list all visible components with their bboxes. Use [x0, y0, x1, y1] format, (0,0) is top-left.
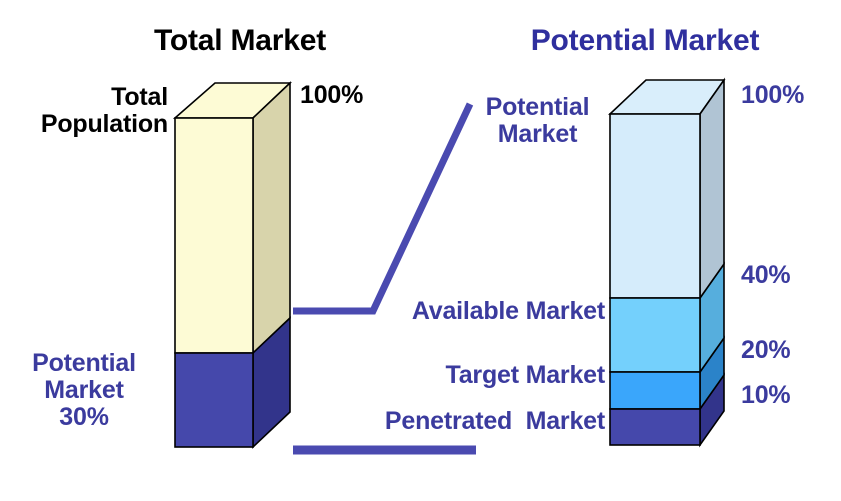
left-chart-potential-label-line1: Potential: [32, 349, 136, 377]
right-bar-side-face-potential: [700, 80, 724, 298]
right-chart-segment-label-target: Target Market: [330, 362, 605, 389]
right-bar-front-face-penetrated: [610, 409, 700, 445]
left-bar-front-face-population: [175, 118, 253, 353]
right-bar-front-face-potential: [610, 114, 700, 298]
left-chart-population-label: TotalPopulation: [0, 84, 168, 138]
right-chart-percent-label-20: 20%: [741, 337, 841, 364]
right-chart-segment-label-penetrated: Penetrated Market: [300, 408, 605, 435]
diagram-canvas: Total Market TotalPopulation 100% Potent…: [0, 0, 841, 501]
left-bar-group: [175, 83, 290, 447]
connector-line: [293, 104, 470, 311]
right-chart-percent-label-100: 100%: [741, 82, 841, 109]
right-chart-segment-label-available: Available Market: [330, 298, 605, 325]
left-bar-side-face-population: [253, 83, 290, 353]
right-bar-group: [610, 80, 724, 445]
left-bar-front-face-potential: [175, 353, 253, 447]
right-chart-percent-label-40: 40%: [741, 262, 841, 289]
left-chart-population-label-line1: Total: [111, 83, 168, 111]
right-chart-title: Potential Market: [500, 25, 790, 57]
right-chart-percent-label-10: 10%: [741, 382, 841, 409]
right-chart-callout-label-line2: Market: [498, 120, 577, 148]
left-chart-potential-label: PotentialMarket30%: [0, 350, 168, 431]
left-chart-top-percent-label: 100%: [300, 82, 410, 109]
right-bar-front-face-target: [610, 372, 700, 409]
left-chart-potential-label-line2: Market: [44, 376, 123, 404]
right-bar-front-face-available: [610, 298, 700, 372]
left-chart-population-label-line2: Population: [41, 110, 168, 138]
right-chart-callout-label-line1: Potential: [486, 93, 590, 121]
left-chart-potential-percent: 30%: [59, 403, 108, 431]
right-chart-callout-label: PotentialMarket: [465, 94, 610, 148]
left-chart-title: Total Market: [110, 25, 370, 57]
